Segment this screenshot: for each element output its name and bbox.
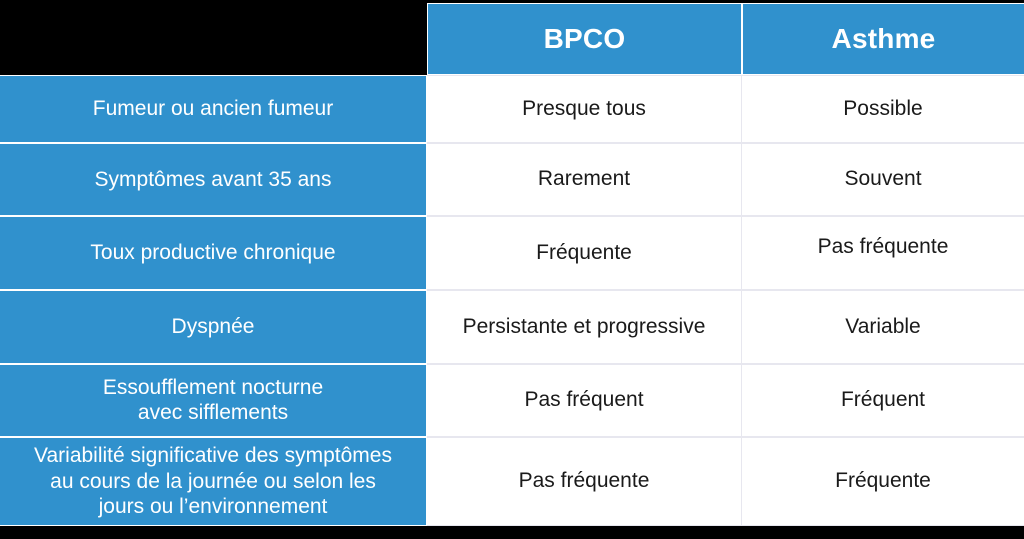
criteria-label-variabilite-symptomes: Variabilité significative des symptômes … [0,437,427,526]
value-bpco-essoufflement-nocturne: Pas fréquent [427,364,742,438]
comparison-table: BPCO Asthme Fumeur ou ancien fumeur Pres… [0,3,1024,526]
table-row: Dyspnée Persistante et progressive Varia… [0,290,1024,364]
value-bpco-dyspnee: Persistante et progressive [427,290,742,364]
value-asthme-symptomes-avant-35-ans: Souvent [742,143,1024,217]
value-asthme-toux-productive: Pas fréquente [742,216,1024,290]
criteria-line: jours ou l’environnement [99,495,328,518]
criteria-label-essoufflement-nocturne: Essoufflement nocturne avec sifflements [0,364,427,438]
header-corner-cell [0,3,427,75]
table-row: Symptômes avant 35 ans Rarement Souvent [0,143,1024,217]
table-row: Toux productive chronique Fréquente Pas … [0,216,1024,290]
column-header-bpco: BPCO [427,3,742,75]
table-row: Variabilité significative des symptômes … [0,437,1024,526]
value-asthme-variabilite-symptomes: Fréquente [742,437,1024,526]
value-asthme-essoufflement-nocturne: Fréquent [742,364,1024,438]
table-head: BPCO Asthme [0,3,1024,75]
value-asthme-fumeur: Possible [742,75,1024,143]
value-bpco-symptomes-avant-35-ans: Rarement [427,143,742,217]
table-body: Fumeur ou ancien fumeur Presque tous Pos… [0,75,1024,526]
criteria-label-symptomes-avant-35-ans: Symptômes avant 35 ans [0,143,427,217]
table-header-row: BPCO Asthme [0,3,1024,75]
criteria-label-toux-productive: Toux productive chronique [0,216,427,290]
table-row: Fumeur ou ancien fumeur Presque tous Pos… [0,75,1024,143]
criteria-line: Variabilité significative des symptômes [34,444,392,467]
value-bpco-toux-productive: Fréquente [427,216,742,290]
value-bpco-variabilite-symptomes: Pas fréquente [427,437,742,526]
criteria-label-fumeur: Fumeur ou ancien fumeur [0,75,427,143]
column-header-asthme: Asthme [742,3,1024,75]
value-bpco-fumeur: Presque tous [427,75,742,143]
bottom-black-band [0,526,1024,539]
criteria-label-dyspnee: Dyspnée [0,290,427,364]
criteria-line: Essoufflement nocturne [103,376,323,399]
criteria-line: au cours de la journée ou selon les [50,470,376,493]
table-row: Essoufflement nocturne avec sifflements … [0,364,1024,438]
slide-canvas: BPCO Asthme Fumeur ou ancien fumeur Pres… [0,0,1024,539]
criteria-line: avec sifflements [138,401,288,424]
value-asthme-dyspnee: Variable [742,290,1024,364]
